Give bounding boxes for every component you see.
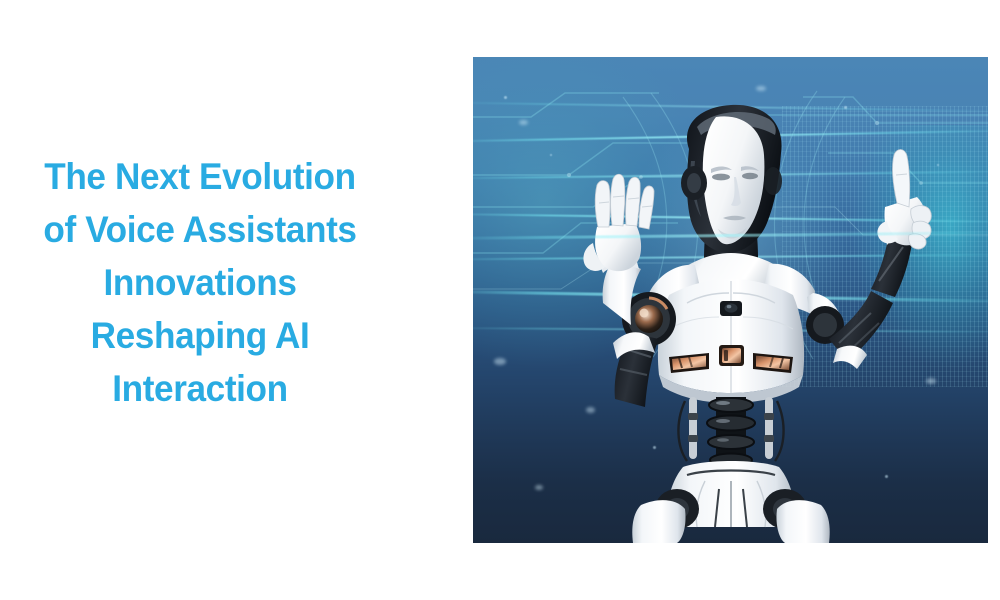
headline-line-1: The Next Evolution: [23, 150, 376, 203]
humanoid-robot-photo: [473, 57, 988, 543]
headline-line-4: Reshaping AI: [23, 309, 376, 362]
page-title: The Next Evolution of Voice Assistants I…: [14, 150, 386, 415]
headline-line-2: of Voice Assistants: [23, 203, 376, 256]
headline-line-3: Innovations: [23, 256, 376, 309]
slide-canvas: The Next Evolution of Voice Assistants I…: [0, 0, 1000, 600]
robot-right-arm: [806, 149, 931, 369]
headline-line-5: Interaction: [23, 362, 376, 415]
robot-figure: [473, 57, 988, 543]
robot-pelvis-armor: [632, 461, 829, 543]
robot-head: [681, 105, 782, 253]
